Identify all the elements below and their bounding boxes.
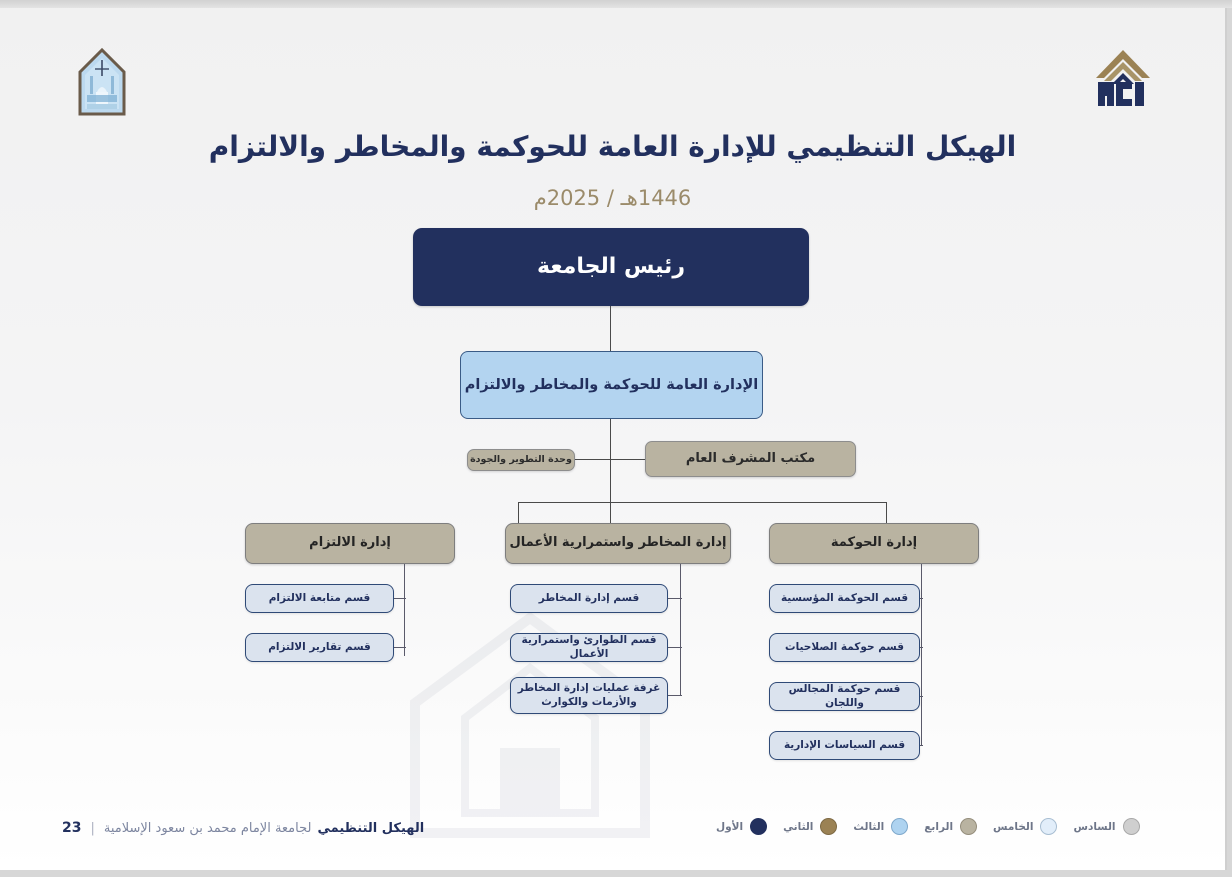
legend-label: الرابع bbox=[924, 821, 953, 833]
org-node-section-compliance-reports[interactable]: قسم تقارير الالتزام bbox=[245, 633, 394, 662]
org-node-section-corporate-governance[interactable]: قسم الحوكمة المؤسسية bbox=[769, 584, 920, 613]
org-node-section-authority-governance[interactable]: قسم حوكمة الصلاحيات bbox=[769, 633, 920, 662]
legend-label: الثالث bbox=[853, 821, 884, 833]
footer-separator: | bbox=[87, 821, 97, 836]
stub-compliance-1 bbox=[394, 598, 406, 599]
stub-risk-1 bbox=[668, 598, 682, 599]
spine-compliance bbox=[404, 564, 405, 656]
presentation-slide: الهيكل التنظيمي للإدارة العامة للحوكمة و… bbox=[0, 8, 1227, 870]
stub-risk-3 bbox=[668, 695, 682, 696]
org-node-department-risk[interactable]: إدارة المخاطر واستمرارية الأعمال bbox=[505, 523, 731, 564]
legend-label: السادس bbox=[1073, 821, 1115, 833]
legend-color-dot bbox=[960, 818, 977, 835]
connector-staff-crossbar bbox=[575, 459, 650, 460]
connector-drop-governance bbox=[886, 502, 887, 523]
org-node-section-compliance-followup[interactable]: قسم متابعة الالتزام bbox=[245, 584, 394, 613]
legend-color-dot bbox=[1040, 818, 1057, 835]
legend-item[interactable]: الثالث bbox=[853, 818, 908, 835]
org-node-department-governance[interactable]: إدارة الحوكمة bbox=[769, 523, 979, 564]
footer-title-bold: الهيكل التنظيمي bbox=[317, 821, 424, 836]
org-node-development-quality-unit[interactable]: وحدة التطوير والجودة bbox=[467, 449, 575, 471]
legend-item[interactable]: الأول bbox=[716, 818, 767, 835]
legend-label: الخامس bbox=[993, 821, 1033, 833]
stub-risk-2 bbox=[668, 647, 682, 648]
connector-department-bar bbox=[518, 502, 887, 503]
footer-caption: الهيكل التنظيمي لجامعة الإمام محمد بن سع… bbox=[62, 820, 424, 836]
legend-item[interactable]: الرابع bbox=[924, 818, 977, 835]
connector-root-to-gm bbox=[610, 306, 611, 351]
org-node-section-councils-committees-governance[interactable]: قسم حوكمة المجالس واللجان bbox=[769, 682, 920, 711]
connector-drop-compliance bbox=[518, 502, 519, 523]
legend-color-dot bbox=[1123, 818, 1140, 835]
connector-gm-trunk bbox=[610, 419, 611, 502]
org-node-president[interactable]: رئيس الجامعة bbox=[413, 228, 809, 306]
legend-item[interactable]: السادس bbox=[1073, 818, 1139, 835]
level-legend: الأول الثاني الثالث الرابع الخامس السادس bbox=[700, 818, 1140, 835]
org-node-section-risk-management[interactable]: قسم إدارة المخاطر bbox=[510, 584, 668, 613]
org-node-department-compliance[interactable]: إدارة الالتزام bbox=[245, 523, 455, 564]
legend-color-dot bbox=[891, 818, 908, 835]
legend-color-dot bbox=[750, 818, 767, 835]
footer-title-light: لجامعة الإمام محمد بن سعود الإسلامية bbox=[104, 821, 312, 836]
legend-label: الثاني bbox=[783, 821, 813, 833]
spine-risk bbox=[680, 564, 681, 695]
stub-compliance-2 bbox=[394, 647, 406, 648]
legend-color-dot bbox=[820, 818, 837, 835]
connector-drop-risk bbox=[610, 502, 611, 523]
footer-page-number: 23 bbox=[62, 820, 81, 836]
org-node-section-crisis-operations-room[interactable]: غرفة عمليات إدارة المخاطر والأزمات والكو… bbox=[510, 677, 668, 714]
viewer-top-bar bbox=[0, 0, 1232, 8]
spine-governance bbox=[921, 564, 922, 746]
legend-item[interactable]: الثاني bbox=[783, 818, 837, 835]
org-node-section-emergency-continuity[interactable]: قسم الطوارئ واستمرارية الأعمال bbox=[510, 633, 668, 662]
legend-label: الأول bbox=[716, 821, 743, 833]
org-node-supervisor-office[interactable]: مكتب المشرف العام bbox=[645, 441, 856, 477]
org-node-section-administrative-policies[interactable]: قسم السياسات الإدارية bbox=[769, 731, 920, 760]
org-node-general-administration[interactable]: الإدارة العامة للحوكمة والمخاطر والالتزا… bbox=[460, 351, 763, 419]
slide-viewer: الهيكل التنظيمي للإدارة العامة للحوكمة و… bbox=[0, 0, 1232, 877]
legend-item[interactable]: الخامس bbox=[993, 818, 1057, 835]
org-chart: رئيس الجامعة الإدارة العامة للحوكمة والم… bbox=[0, 8, 1225, 870]
